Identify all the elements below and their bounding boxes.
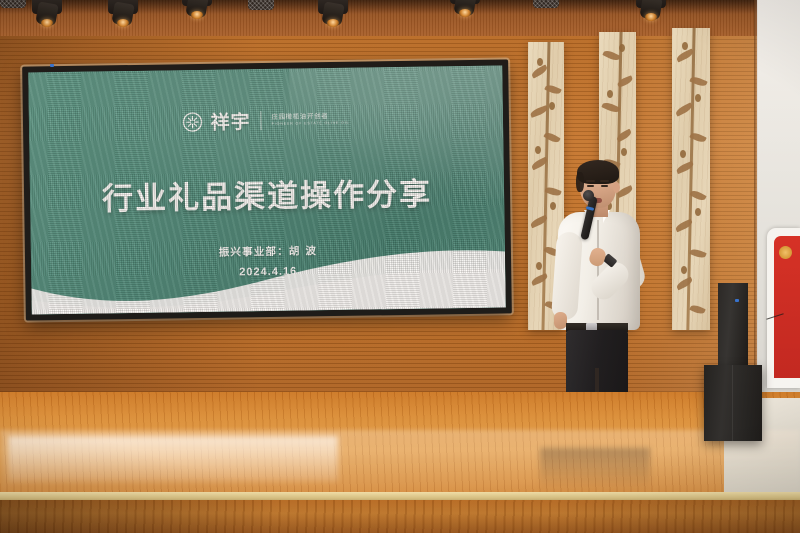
ceiling-speaker-grille-icon	[533, 0, 559, 8]
speaker-led-indicator	[735, 299, 739, 302]
shirt-placket	[597, 220, 599, 320]
subwoofer-cabinet	[704, 365, 762, 441]
line-array-speaker	[718, 283, 748, 367]
presenter-brow-right	[600, 180, 609, 182]
stage-spotlight-icon	[634, 0, 668, 22]
stage-spotlight-icon	[180, 0, 214, 20]
microphone-capsule	[583, 190, 594, 201]
stage-spotlight-icon	[448, 0, 482, 18]
presenter-brow-left	[586, 180, 595, 182]
presenter-ear	[613, 182, 620, 193]
presentation-photo-scene: 祥宇 庄园橄榄油开创者 PIONEER OF ESTATE OLIVE OIL …	[0, 0, 800, 533]
led-screen[interactable]: 祥宇 庄园橄榄油开创者 PIONEER OF ESTATE OLIVE OIL …	[22, 59, 512, 320]
subwoofer-led-indicator	[50, 64, 54, 67]
carved-olive-panel	[672, 28, 710, 330]
presenter-hair-side	[576, 172, 584, 192]
gold-seal-icon	[779, 246, 792, 259]
screen-reflection	[8, 436, 338, 482]
screen-surface: 祥宇 庄园橄榄油开创者 PIONEER OF ESTATE OLIVE OIL …	[28, 65, 506, 314]
stage-spotlight-icon	[30, 0, 64, 28]
presenter-reflection	[540, 448, 650, 490]
stage-spotlight-icon	[106, 0, 140, 28]
ceiling-speaker-grille-icon	[0, 0, 26, 8]
stage-spotlight-icon	[316, 0, 350, 28]
screen-glare	[289, 65, 504, 201]
ceiling-speaker-grille-icon	[248, 0, 274, 10]
stage-front-shading	[0, 500, 800, 533]
